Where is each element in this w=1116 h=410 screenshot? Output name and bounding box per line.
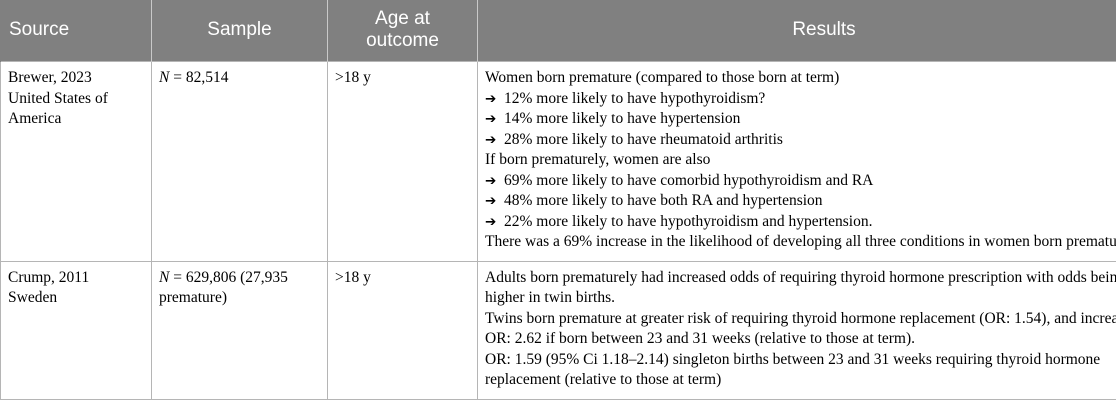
results-bullet-list-2: ➔69% more likely to have comorbid hypoth… [485, 171, 1116, 233]
column-header-age-line1: Age at [375, 8, 430, 29]
results-paragraph-1: Adults born prematurely had increased od… [485, 268, 1116, 309]
cell-source: Brewer, 2023 United States of America [1, 62, 152, 262]
cell-sample: N = 82,514 [152, 62, 328, 262]
results-intro-2: If born prematurely, women are also [485, 150, 1116, 171]
table-row: Crump, 2011 Sweden N = 629,806 (27,935 p… [1, 261, 1116, 399]
column-header-age-at-outcome: Age at outcome [328, 1, 478, 62]
results-bullet-list-1: ➔12% more likely to have hypothyroidism?… [485, 89, 1116, 151]
arrow-right-icon: ➔ [485, 109, 496, 130]
cell-sample: N = 629,806 (27,935 premature) [152, 261, 328, 399]
source-country-line2: America [8, 109, 144, 130]
results-table-container: Source Sample Age at outcome Results Bre… [0, 0, 1116, 400]
sample-n-symbol: N [159, 269, 169, 286]
table-header: Source Sample Age at outcome Results [1, 1, 1116, 62]
arrow-right-icon: ➔ [485, 212, 496, 233]
cell-source: Crump, 2011 Sweden [1, 261, 152, 399]
table-row: Brewer, 2023 United States of America N … [1, 62, 1116, 262]
list-item-text: 22% more likely to have hypothyroidism a… [504, 213, 873, 230]
cell-results: Adults born prematurely had increased od… [478, 261, 1116, 399]
list-item: ➔22% more likely to have hypothyroidism … [485, 212, 1116, 233]
list-item: ➔48% more likely to have both RA and hyp… [485, 191, 1116, 212]
column-header-source: Source [1, 1, 152, 62]
cell-age-at-outcome: >18 y [328, 261, 478, 399]
sample-value: = 629,806 (27,935 premature) [159, 269, 288, 307]
column-header-results: Results [478, 1, 1116, 62]
column-header-age-line2: outcome [366, 30, 439, 51]
source-country-line1: Sweden [8, 288, 144, 309]
sample-n-symbol: N [159, 69, 169, 86]
results-block: Adults born prematurely had increased od… [485, 268, 1116, 391]
list-item-text: 14% more likely to have hypertension [504, 110, 740, 127]
source-country-line1: United States of [8, 89, 144, 110]
results-paragraph-3: OR: 1.59 (95% Ci 1.18–2.14) singleton bi… [485, 350, 1116, 391]
arrow-right-icon: ➔ [485, 89, 496, 110]
column-header-sample: Sample [152, 1, 328, 62]
list-item: ➔12% more likely to have hypothyroidism? [485, 89, 1116, 110]
results-paragraph-2: Twins born premature at greater risk of … [485, 309, 1116, 350]
arrow-right-icon: ➔ [485, 130, 496, 151]
arrow-right-icon: ➔ [485, 171, 496, 192]
cell-age-at-outcome: >18 y [328, 62, 478, 262]
arrow-right-icon: ➔ [485, 191, 496, 212]
list-item-text: 69% more likely to have comorbid hypothy… [504, 172, 873, 189]
list-item: ➔28% more likely to have rheumatoid arth… [485, 130, 1116, 151]
results-block: Women born premature (compared to those … [485, 68, 1116, 253]
list-item: ➔14% more likely to have hypertension [485, 109, 1116, 130]
list-item-text: 48% more likely to have both RA and hype… [504, 192, 823, 209]
cell-results: Women born premature (compared to those … [478, 62, 1116, 262]
source-author-year: Crump, 2011 [8, 268, 144, 289]
table-body: Brewer, 2023 United States of America N … [1, 62, 1116, 400]
results-intro-1: Women born premature (compared to those … [485, 68, 1116, 89]
list-item-text: 28% more likely to have rheumatoid arthr… [504, 131, 783, 148]
list-item: ➔69% more likely to have comorbid hypoth… [485, 171, 1116, 192]
source-author-year: Brewer, 2023 [8, 68, 144, 89]
results-closing: There was a 69% increase in the likeliho… [485, 232, 1116, 253]
sample-value: = 82,514 [169, 69, 228, 86]
table-header-row: Source Sample Age at outcome Results [1, 1, 1116, 62]
list-item-text: 12% more likely to have hypothyroidism? [504, 90, 765, 107]
evidence-table: Source Sample Age at outcome Results Bre… [0, 0, 1116, 400]
